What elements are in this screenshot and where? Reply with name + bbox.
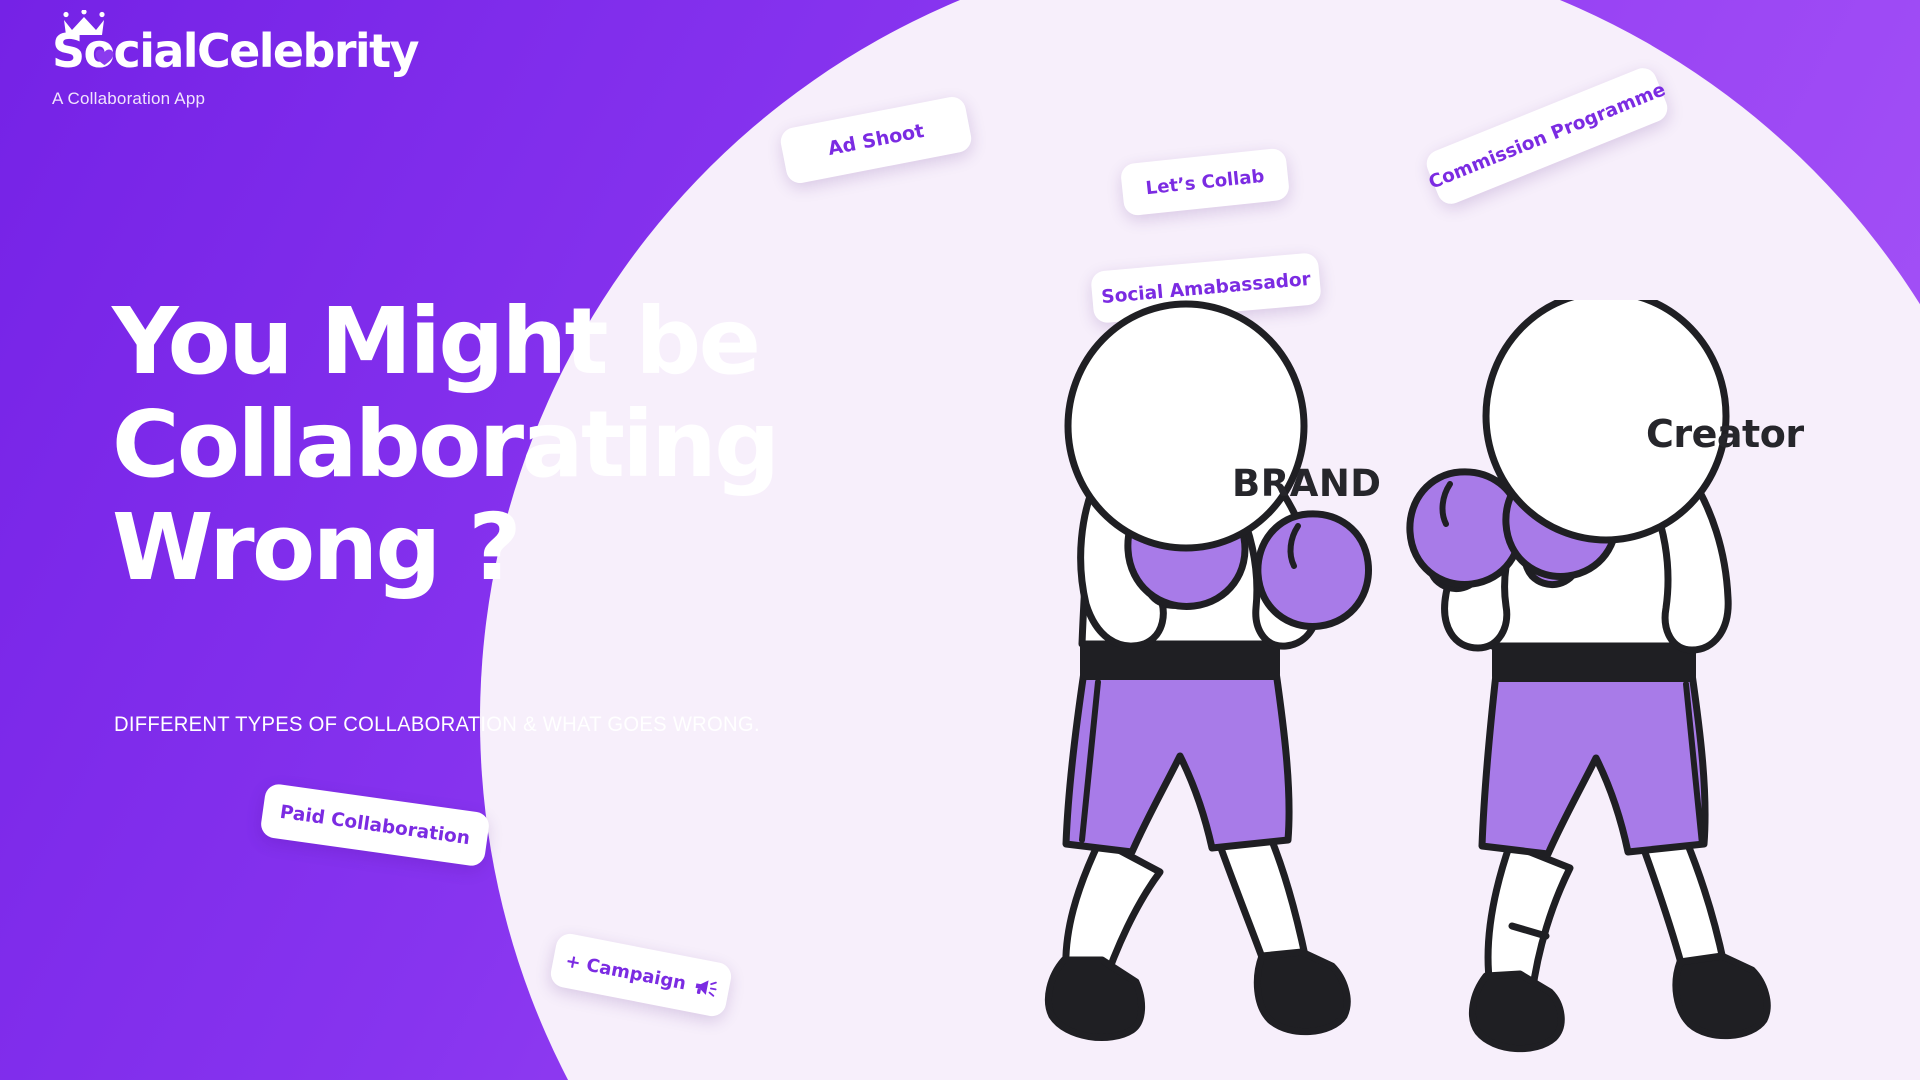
headline-line-1: You Might be	[112, 290, 1012, 393]
tag-pill-paid-collaboration[interactable]: Paid Collaboration	[259, 783, 490, 868]
headline-line-2: Collaborating	[112, 393, 1012, 496]
hero-heading: You Might be Collaborating Wrong ?	[112, 290, 1012, 599]
tag-pill-label: Paid Collaboration	[279, 801, 472, 848]
brand-head-label: BRAND	[1232, 462, 1382, 505]
page-title: You Might be Collaborating Wrong ?	[112, 290, 1012, 599]
heart-icon	[95, 49, 114, 66]
logo-lockup: SocialCelebrity	[52, 28, 482, 74]
hero-subheading: DIFFERENT TYPES OF COLLABORATION & WHAT …	[114, 712, 760, 737]
poster-canvas: SocialCelebrity A Collaboration App You …	[0, 0, 1920, 1080]
megaphone-icon	[693, 977, 718, 999]
headline-line-3: Wrong ?	[112, 496, 1012, 599]
tag-pill-label: Let’s Collab	[1145, 165, 1266, 198]
creator-head-label: Creator	[1646, 412, 1804, 456]
brand-boxer	[1048, 304, 1368, 1038]
brand-logo[interactable]: SocialCelebrity A Collaboration App	[52, 28, 482, 109]
tag-pill-label: Ad Shoot	[826, 120, 926, 160]
tag-pill-label: + Campaign	[564, 950, 688, 994]
logo-tagline: A Collaboration App	[52, 89, 482, 109]
